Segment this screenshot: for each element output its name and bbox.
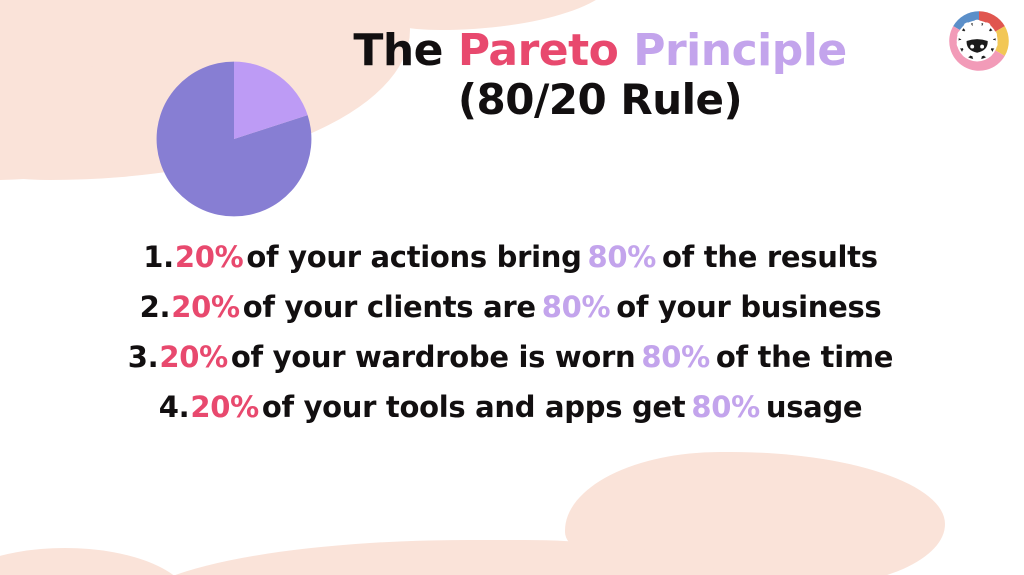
list-item-number: 2. — [140, 293, 171, 322]
background-blob-bottom-right — [565, 452, 945, 575]
list-item: 4. 20% of your tools and apps get 80% us… — [0, 393, 1024, 422]
list-item-mid-text: of your clients are — [243, 293, 536, 322]
list-item-end-text: of your business — [616, 293, 881, 322]
sheep-logo-icon[interactable] — [948, 10, 1010, 72]
slide-canvas: The Pareto Principle (80/20 Rule) 1. 20%… — [0, 0, 1024, 575]
list-item-purple-value: 80% — [542, 293, 611, 322]
list-item-purple-value: 80% — [588, 243, 657, 272]
list-item: 3. 20% of your wardrobe is worn 80% of t… — [0, 343, 1024, 372]
title-line-2: (80/20 Rule) — [300, 78, 900, 122]
list-item-pink-value: 20% — [171, 293, 240, 322]
list-item-end-text: of the results — [662, 243, 878, 272]
list-item-number: 1. — [143, 243, 174, 272]
title-line-1: The Pareto Principle — [300, 28, 900, 74]
pareto-examples-list: 1. 20% of your actions bring 80% of the … — [0, 243, 1024, 443]
list-item-number: 3. — [128, 343, 159, 372]
title-word-the: The — [353, 25, 458, 76]
list-item-mid-text: of your actions bring — [246, 243, 581, 272]
list-item: 2. 20% of your clients are 80% of your b… — [0, 293, 1024, 322]
list-item-pink-value: 20% — [190, 393, 259, 422]
list-item-purple-value: 80% — [691, 393, 760, 422]
background-blob-bottom-left — [0, 548, 190, 575]
list-item-number: 4. — [159, 393, 190, 422]
page-title: The Pareto Principle (80/20 Rule) — [300, 28, 900, 121]
list-item-purple-value: 80% — [641, 343, 710, 372]
background-blob-bottom-middle — [130, 540, 750, 575]
pareto-pie-chart — [155, 60, 313, 218]
list-item-end-text: usage — [766, 393, 862, 422]
list-item: 1. 20% of your actions bring 80% of the … — [0, 243, 1024, 272]
background-blob-top-left-lower — [0, 55, 150, 180]
list-item-mid-text: of your wardrobe is worn — [231, 343, 635, 372]
list-item-end-text: of the time — [716, 343, 893, 372]
title-word-pareto: Pareto — [458, 25, 633, 76]
list-item-pink-value: 20% — [159, 343, 228, 372]
list-item-pink-value: 20% — [175, 243, 244, 272]
list-item-mid-text: of your tools and apps get — [262, 393, 686, 422]
title-word-principle: Principle — [633, 25, 846, 76]
